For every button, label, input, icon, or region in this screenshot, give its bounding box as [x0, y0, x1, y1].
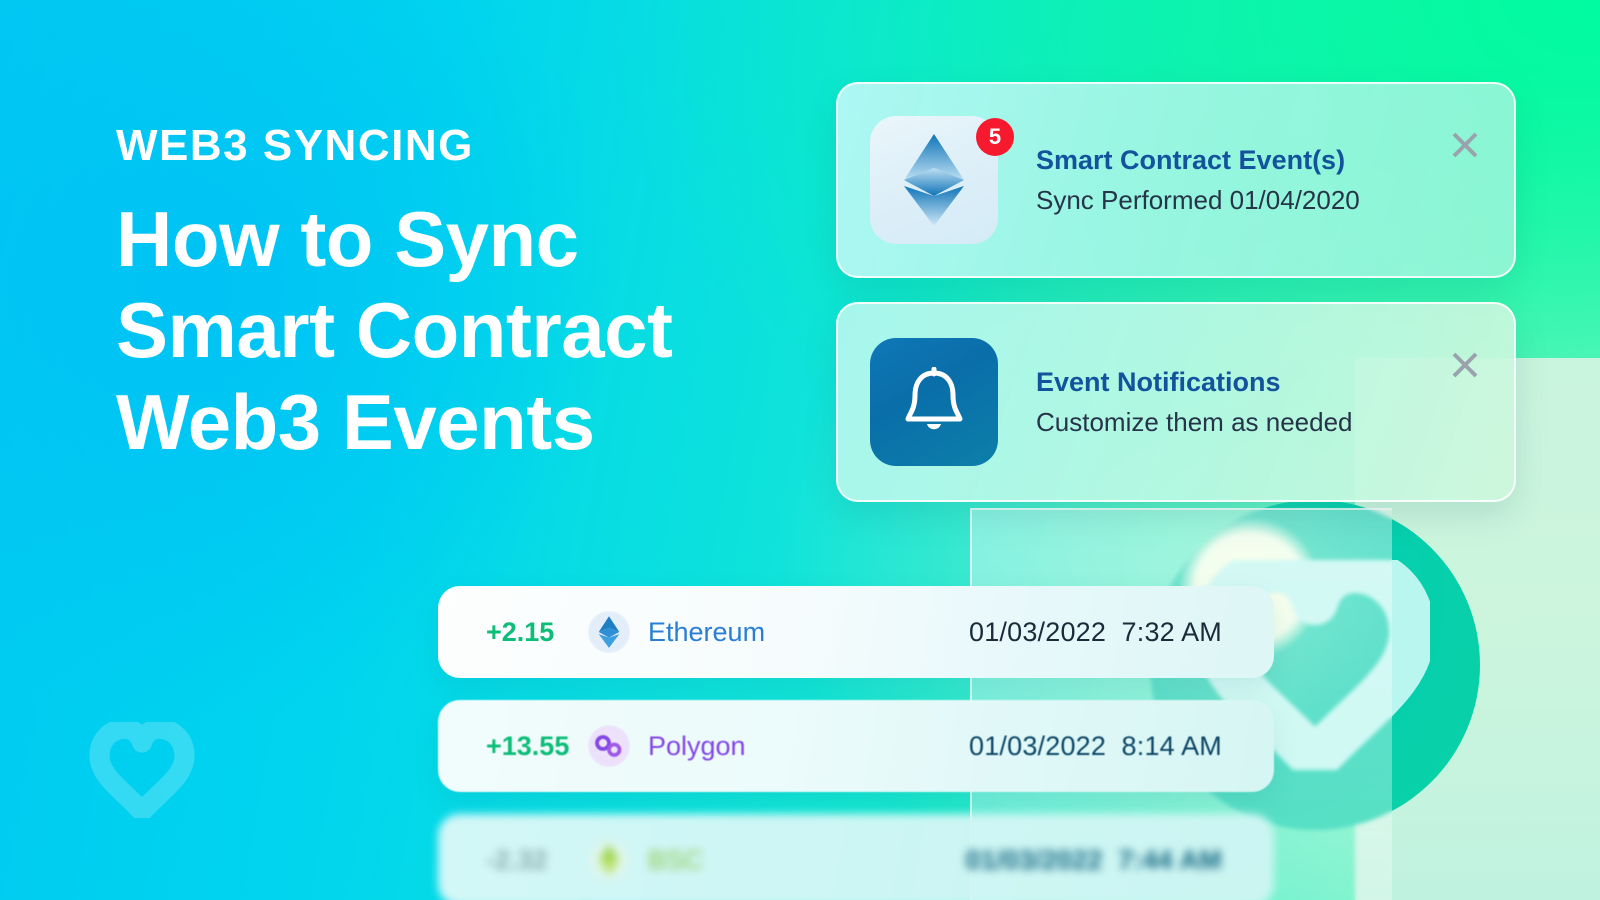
page-title: How to Sync Smart Contract Web3 Events	[116, 194, 936, 468]
kicker-text: WEB3 SYNCING	[116, 124, 936, 168]
notification-card-event-notifications[interactable]: Event Notifications Customize them as ne…	[836, 302, 1516, 502]
notification-text-block: Event Notifications Customize them as ne…	[1036, 366, 1353, 438]
close-icon[interactable]	[1448, 128, 1482, 162]
tx-date: 01/03/2022	[966, 845, 1103, 875]
bsc-icon	[588, 839, 630, 881]
close-x-glyph	[1450, 350, 1480, 380]
close-x-glyph	[1450, 130, 1480, 160]
ethereum-icon	[902, 134, 966, 226]
tx-chain-name: Ethereum	[648, 617, 765, 648]
close-icon[interactable]	[1448, 348, 1482, 382]
tx-amount: +2.15	[438, 617, 588, 648]
notification-title: Event Notifications	[1036, 366, 1353, 398]
polygon-icon	[588, 725, 630, 767]
tx-amount: +13.55	[438, 731, 588, 762]
tx-chain-name: Polygon	[648, 731, 746, 762]
tx-chain: Ethereum	[588, 611, 765, 653]
tx-datetime: 01/03/2022 7:44 AM	[966, 845, 1222, 876]
notification-subtitle: Sync Performed 01/04/2020	[1036, 185, 1360, 216]
title-line-2: Smart Contract	[116, 285, 936, 376]
banner-stage: WEB3 SYNCING How to Sync Smart Contract …	[0, 0, 1600, 900]
tx-date: 01/03/2022	[969, 617, 1106, 647]
table-row[interactable]: +2.15 Ethereum 01/03/2022 7:32 AM	[438, 586, 1274, 678]
polygon-glyph	[594, 734, 624, 758]
ethereum-glyph	[598, 616, 620, 648]
tx-date: 01/03/2022	[969, 731, 1106, 761]
notification-icon-tile: 5	[870, 116, 998, 244]
notification-icon-tile	[870, 338, 998, 466]
notification-text-block: Smart Contract Event(s) Sync Performed 0…	[1036, 144, 1360, 216]
headline-block: WEB3 SYNCING How to Sync Smart Contract …	[116, 124, 936, 468]
tx-time: 7:44 AM	[1118, 845, 1222, 875]
tx-amount: -2.32	[438, 845, 588, 876]
title-line-3: Web3 Events	[116, 377, 936, 468]
bell-icon	[903, 367, 965, 437]
tx-chain: Polygon	[588, 725, 746, 767]
title-line-1: How to Sync	[116, 194, 936, 285]
tx-datetime: 01/03/2022 8:14 AM	[969, 731, 1222, 762]
notification-title: Smart Contract Event(s)	[1036, 144, 1360, 176]
notification-card-smart-contract[interactable]: 5 Smart Contract Event(s) Sync Performed…	[836, 82, 1516, 278]
tx-datetime: 01/03/2022 7:32 AM	[969, 617, 1222, 648]
tx-time: 7:32 AM	[1122, 617, 1222, 647]
tx-time: 8:14 AM	[1122, 731, 1222, 761]
table-row[interactable]: -2.32 BSC 01/03/2022 7:44 AM	[438, 814, 1274, 900]
moralis-watermark	[88, 722, 196, 818]
event-count-badge: 5	[976, 118, 1014, 156]
table-row[interactable]: +13.55 Polygon 01/03/2022 8:14 AM	[438, 700, 1274, 792]
notification-subtitle: Customize them as needed	[1036, 407, 1353, 438]
bsc-glyph	[598, 845, 620, 875]
ethereum-icon	[588, 611, 630, 653]
tx-chain: BSC	[588, 839, 704, 881]
tx-chain-name: BSC	[648, 845, 704, 876]
